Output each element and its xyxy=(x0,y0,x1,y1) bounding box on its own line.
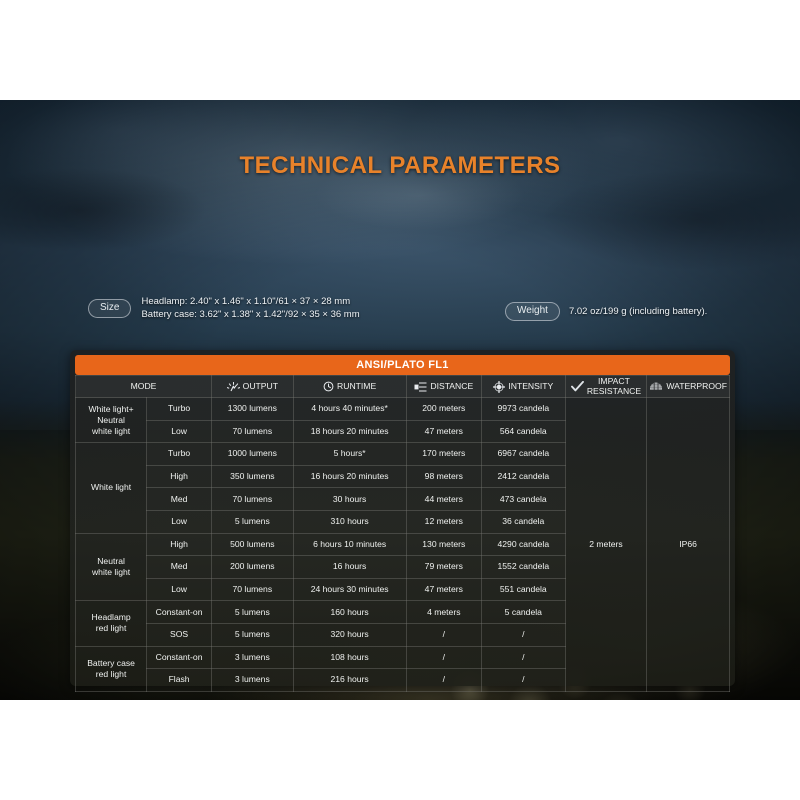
ansi-plato-banner: ANSI/PLATO FL1 xyxy=(75,355,730,375)
header-impact-resistance-label: IMPACT RESISTANCE xyxy=(587,377,641,396)
cell-mode: Med xyxy=(147,488,212,511)
table-body: White light+Neutralwhite lightTurbo1300 … xyxy=(76,398,730,692)
cell-runtime: 5 hours* xyxy=(293,443,406,466)
cell-output: 3 lumens xyxy=(212,646,294,669)
cell-output: 3 lumens xyxy=(212,669,294,692)
weight-label: Weight xyxy=(505,302,560,321)
check-icon xyxy=(571,381,584,392)
cell-mode: Low xyxy=(147,578,212,601)
cell-mode: Low xyxy=(147,420,212,443)
cell-runtime: 24 hours 30 minutes xyxy=(293,578,406,601)
cell-runtime: 16 hours xyxy=(293,556,406,579)
header-mode: MODE xyxy=(76,376,212,398)
cell-distance: 47 meters xyxy=(406,578,481,601)
output-icon xyxy=(227,382,240,392)
cell-mode: Med xyxy=(147,556,212,579)
cell-runtime: 30 hours xyxy=(293,488,406,511)
size-headlamp-line: Headlamp: 2.40" x 1.46" x 1.10"/61 × 37 … xyxy=(141,296,359,309)
cell-runtime: 18 hours 20 minutes xyxy=(293,420,406,443)
page-title: TECHNICAL PARAMETERS xyxy=(0,152,800,180)
cell-distance: 130 meters xyxy=(406,533,481,556)
table-header-row: MODE OUTPUT xyxy=(76,376,730,398)
table-row: White light+Neutralwhite lightTurbo1300 … xyxy=(76,398,730,421)
cell-distance: 47 meters xyxy=(406,420,481,443)
header-output-label: OUTPUT xyxy=(243,381,278,392)
header-intensity: INTENSITY xyxy=(481,376,565,398)
cell-runtime: 16 hours 20 minutes xyxy=(293,465,406,488)
header-output: OUTPUT xyxy=(212,376,294,398)
cell-mode: Flash xyxy=(147,669,212,692)
row-group-label: White light xyxy=(76,443,147,533)
cell-intensity: 473 candela xyxy=(481,488,565,511)
header-intensity-label: INTENSITY xyxy=(508,381,553,392)
header-waterproof: WATERPROOF xyxy=(647,376,730,398)
row-group-label: Battery casered light xyxy=(76,646,147,691)
specification-panel: ANSI/PLATO FL1 MODE xyxy=(70,350,735,686)
cell-mode: Constant-on xyxy=(147,601,212,624)
cell-distance: / xyxy=(406,669,481,692)
header-distance-label: DISTANCE xyxy=(430,381,473,392)
cell-intensity: 36 candela xyxy=(481,510,565,533)
cell-distance: 4 meters xyxy=(406,601,481,624)
cell-distance: 44 meters xyxy=(406,488,481,511)
cell-runtime: 320 hours xyxy=(293,623,406,646)
cell-output: 5 lumens xyxy=(212,601,294,624)
cell-impact-resistance: 2 meters xyxy=(565,398,647,692)
size-values: Headlamp: 2.40" x 1.46" x 1.10"/61 × 37 … xyxy=(141,296,359,321)
header-distance: DISTANCE xyxy=(406,376,481,398)
cell-distance: 98 meters xyxy=(406,465,481,488)
cell-output: 200 lumens xyxy=(212,556,294,579)
cell-distance: 79 meters xyxy=(406,556,481,579)
cell-output: 5 lumens xyxy=(212,510,294,533)
cell-runtime: 108 hours xyxy=(293,646,406,669)
weight-value: 7.02 oz/199 g (including battery). xyxy=(569,306,707,317)
cell-output: 1300 lumens xyxy=(212,398,294,421)
cell-intensity: 5 candela xyxy=(481,601,565,624)
cell-distance: / xyxy=(406,646,481,669)
intensity-icon xyxy=(493,381,505,393)
cell-output: 70 lumens xyxy=(212,578,294,601)
row-group-label: White light+Neutralwhite light xyxy=(76,398,147,443)
impact-line-1: IMPACT xyxy=(598,376,630,386)
row-group-label: Neutralwhite light xyxy=(76,533,147,601)
cell-output: 350 lumens xyxy=(212,465,294,488)
cell-output: 1000 lumens xyxy=(212,443,294,466)
size-battery-case-line: Battery case: 3.62" x 1.38" x 1.42"/92 ×… xyxy=(141,309,359,322)
cell-runtime: 310 hours xyxy=(293,510,406,533)
header-impact-resistance: IMPACT RESISTANCE xyxy=(565,376,647,398)
cell-output: 70 lumens xyxy=(212,420,294,443)
cell-intensity: / xyxy=(481,669,565,692)
size-spec: Size Headlamp: 2.40" x 1.46" x 1.10"/61 … xyxy=(88,296,360,321)
cell-mode: SOS xyxy=(147,623,212,646)
specification-table: MODE OUTPUT xyxy=(75,375,730,692)
cell-mode: Turbo xyxy=(147,443,212,466)
cell-mode: Turbo xyxy=(147,398,212,421)
cell-output: 70 lumens xyxy=(212,488,294,511)
cell-distance: 200 meters xyxy=(406,398,481,421)
cell-intensity: 4290 candela xyxy=(481,533,565,556)
cell-mode: High xyxy=(147,533,212,556)
cell-waterproof: IP66 xyxy=(647,398,730,692)
hero-banner: TECHNICAL PARAMETERS Size Headlamp: 2.40… xyxy=(0,100,800,700)
cell-mode: High xyxy=(147,465,212,488)
size-label: Size xyxy=(88,299,131,318)
cell-intensity: 551 candela xyxy=(481,578,565,601)
cell-intensity: / xyxy=(481,646,565,669)
header-runtime: RUNTIME xyxy=(293,376,406,398)
cell-intensity: 9973 candela xyxy=(481,398,565,421)
cell-runtime: 160 hours xyxy=(293,601,406,624)
weight-spec: Weight 7.02 oz/199 g (including battery)… xyxy=(505,302,707,321)
cell-runtime: 216 hours xyxy=(293,669,406,692)
impact-line-2: RESISTANCE xyxy=(587,386,641,396)
cell-intensity: 2412 candela xyxy=(481,465,565,488)
cell-runtime: 4 hours 40 minutes* xyxy=(293,398,406,421)
cell-intensity: 1552 candela xyxy=(481,556,565,579)
cell-intensity: 564 candela xyxy=(481,420,565,443)
cell-distance: / xyxy=(406,623,481,646)
cell-intensity: 6967 candela xyxy=(481,443,565,466)
cell-output: 5 lumens xyxy=(212,623,294,646)
cell-intensity: / xyxy=(481,623,565,646)
cell-mode: Constant-on xyxy=(147,646,212,669)
cell-runtime: 6 hours 10 minutes xyxy=(293,533,406,556)
header-waterproof-label: WATERPROOF xyxy=(666,381,727,392)
header-mode-label: MODE xyxy=(131,381,157,392)
row-group-label: Headlampred light xyxy=(76,601,147,646)
clock-icon xyxy=(323,381,334,392)
cell-mode: Low xyxy=(147,510,212,533)
cell-distance: 12 meters xyxy=(406,510,481,533)
waterproof-icon xyxy=(649,381,663,392)
cell-output: 500 lumens xyxy=(212,533,294,556)
beam-icon xyxy=(414,382,427,392)
header-runtime-label: RUNTIME xyxy=(337,381,376,392)
cell-distance: 170 meters xyxy=(406,443,481,466)
